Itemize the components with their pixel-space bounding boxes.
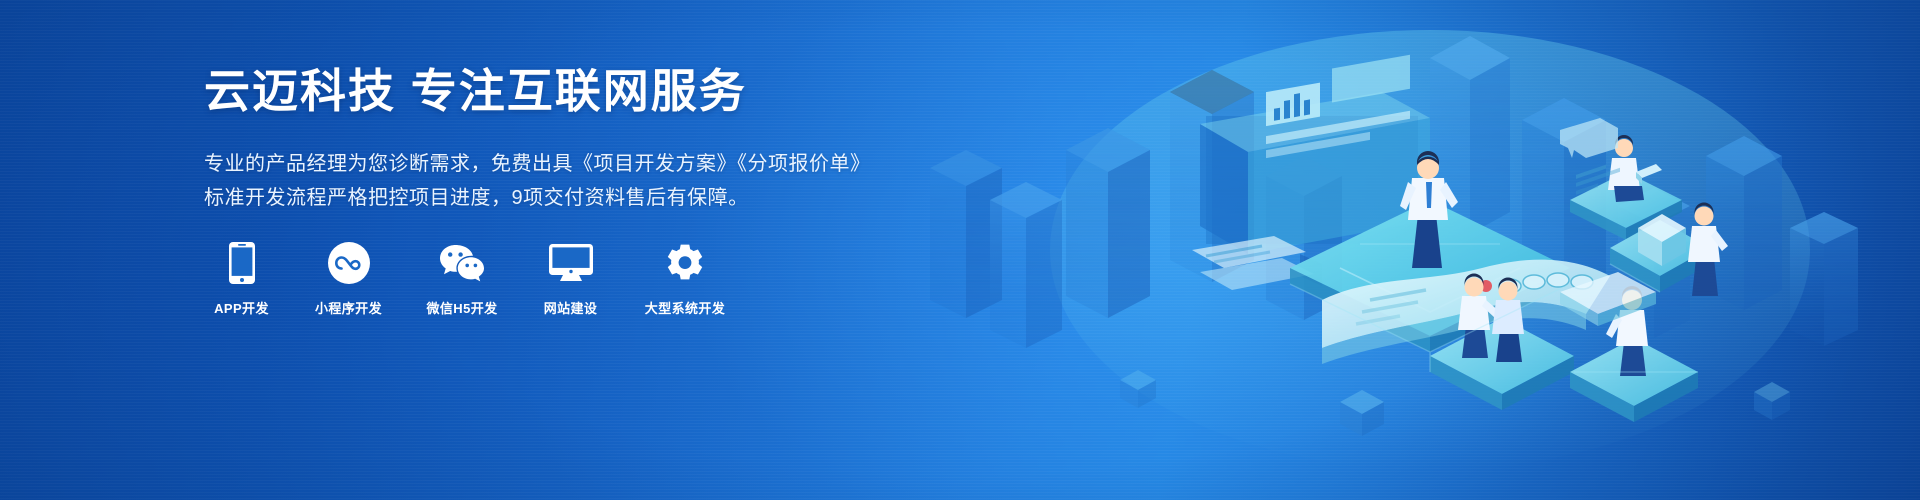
gear-icon: [665, 241, 705, 285]
service-label-system: 大型系统开发: [645, 298, 725, 317]
service-label-miniprogram: 小程序开发: [315, 298, 382, 317]
promo-banner: 云迈科技 专注互联网服务 专业的产品经理为您诊断需求，免费出具《项目开发方案》《…: [0, 0, 1920, 500]
wechat-icon: [439, 241, 485, 285]
service-label-wechat: 微信H5开发: [426, 298, 497, 317]
service-item-website[interactable]: 网站建设: [533, 241, 608, 317]
service-label-website: 网站建设: [544, 298, 598, 317]
isometric-illustration: [870, 0, 1920, 500]
service-item-system[interactable]: 大型系统开发: [635, 241, 735, 317]
monitor-icon: [549, 241, 593, 285]
service-item-wechat[interactable]: 微信H5开发: [418, 241, 506, 317]
banner-content: 云迈科技 专注互联网服务 专业的产品经理为您诊断需求，免费出具《项目开发方案》《…: [204, 66, 924, 317]
service-item-app[interactable]: APP开发: [204, 241, 279, 317]
service-item-miniprogram[interactable]: 小程序开发: [306, 241, 391, 317]
service-list: APP开发 小程序开发: [204, 241, 924, 317]
banner-subtitle: 专业的产品经理为您诊断需求，免费出具《项目开发方案》《分项报价单》 标准开发流程…: [204, 147, 924, 215]
service-label-app: APP开发: [214, 298, 269, 317]
mobile-phone-icon: [229, 241, 255, 285]
mini-program-icon: [328, 241, 370, 285]
subtitle-line-1: 专业的产品经理为您诊断需求，免费出具《项目开发方案》《分项报价单》: [204, 147, 924, 181]
banner-title: 云迈科技 专注互联网服务: [204, 66, 924, 117]
subtitle-line-2: 标准开发流程严格把控项目进度，9项交付资料售后有保障。: [204, 181, 924, 215]
